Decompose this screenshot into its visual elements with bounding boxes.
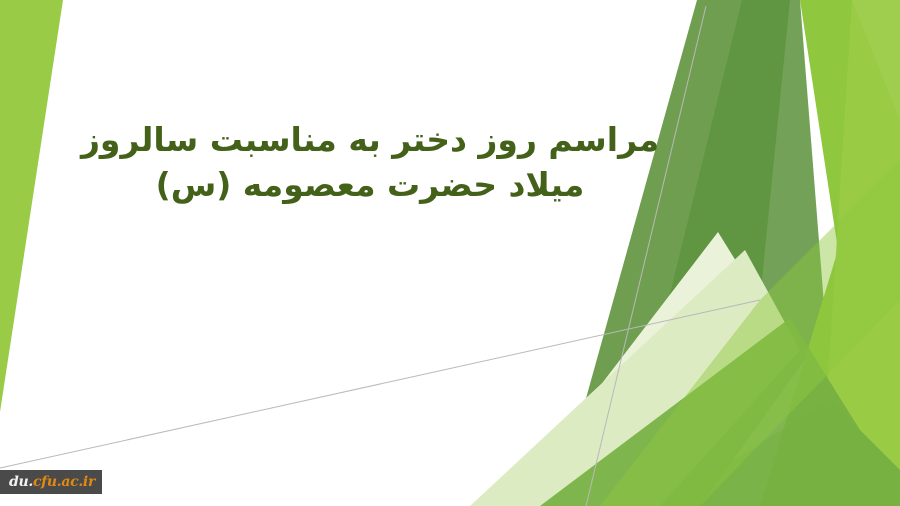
lower-mid-wedge-shape bbox=[540, 318, 900, 506]
slide-title-line-2: میلاد حضرت معصومه (س) bbox=[70, 163, 670, 208]
band-crossing-overlay-shape bbox=[600, 160, 900, 506]
right-muted-band-shape bbox=[556, 0, 790, 506]
right-lime-band-shape bbox=[760, 0, 900, 506]
site-watermark: du. cfu.ac.ir bbox=[0, 470, 102, 494]
lower-mid-sliver-shape bbox=[660, 400, 900, 506]
decorative-background-art bbox=[0, 0, 900, 506]
right-bright-edge-shape bbox=[820, 0, 900, 506]
right-dark-band-shape bbox=[618, 0, 826, 506]
presentation-slide: مراسم روز دختر به مناسبت سالروز میلاد حض… bbox=[0, 0, 900, 506]
lower-pale-wedge-shape bbox=[470, 250, 800, 506]
very-pale-wedge-shape bbox=[508, 232, 760, 506]
watermark-prefix: du. bbox=[9, 475, 33, 489]
hairline-lower-line bbox=[0, 300, 760, 468]
watermark-domain: cfu.ac.ir bbox=[33, 475, 95, 489]
hairline-upper-line bbox=[586, 6, 706, 506]
slide-title: مراسم روز دختر به مناسبت سالروز میلاد حض… bbox=[70, 118, 670, 208]
slide-title-line-1: مراسم روز دختر به مناسبت سالروز bbox=[70, 118, 670, 163]
left-wedge-shape bbox=[0, 0, 63, 412]
